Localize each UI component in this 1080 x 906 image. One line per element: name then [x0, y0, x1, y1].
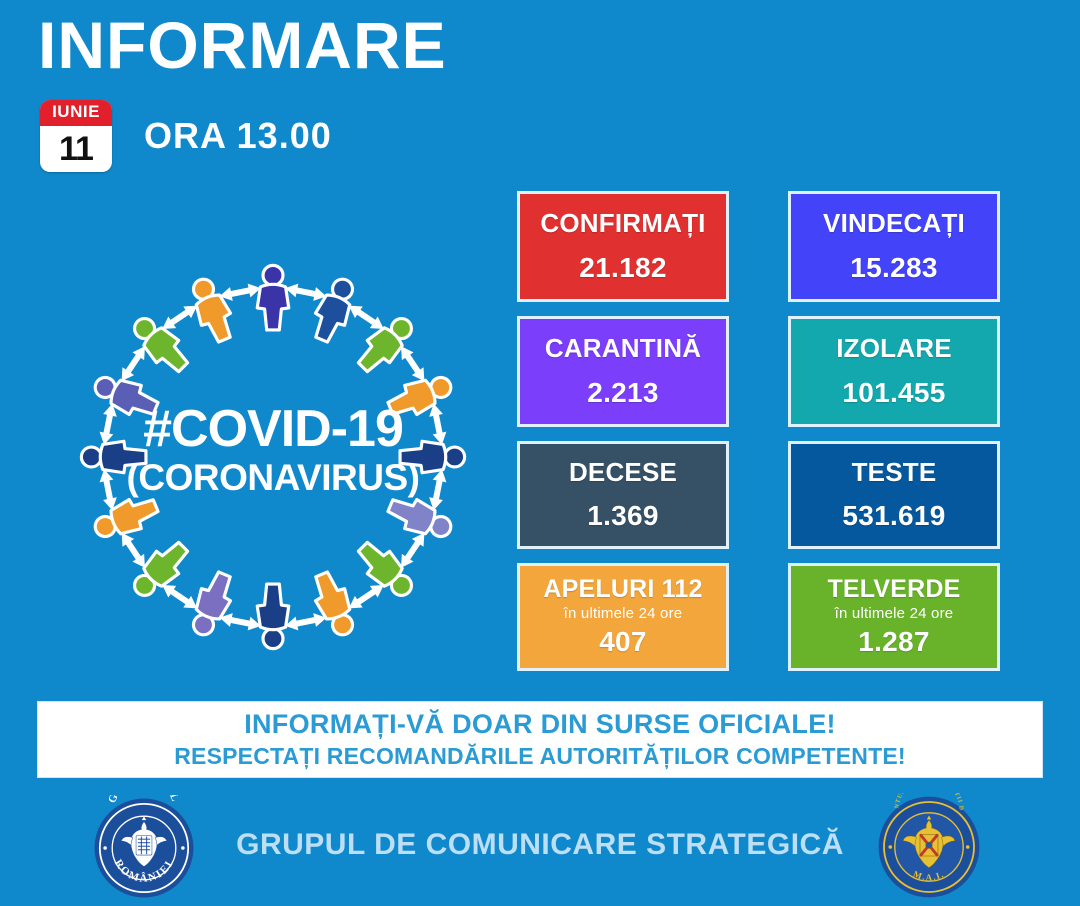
stat-card-izolare: IZOLARE101.455 [788, 316, 1000, 427]
stat-card-confirmati: CONFIRMAȚI21.182 [517, 191, 729, 302]
page-title: INFORMARE [38, 12, 447, 78]
stat-card-carantina: CARANTINĂ2.213 [517, 316, 729, 427]
statistics-grid: CONFIRMAȚI21.182VINDECAȚI15.283CARANTINĂ… [517, 191, 1000, 671]
infographic-page: INFORMARE IUNIE 11 ORA 13.00 #COVID-19 [0, 0, 1080, 906]
stat-value: 1.287 [858, 626, 930, 658]
calendar-icon: IUNIE 11 [40, 100, 112, 172]
stat-value: 15.283 [850, 252, 937, 284]
social-distancing-circle-icon: #COVID-19 (CORONAVIRUS) [38, 222, 508, 692]
stat-label: IZOLARE [836, 334, 952, 363]
calendar-month-label: IUNIE [40, 100, 112, 126]
stat-label: CARANTINĂ [545, 334, 701, 363]
stat-label: VINDECAȚI [823, 209, 965, 238]
stat-value: 1.369 [587, 500, 659, 532]
stat-value: 407 [599, 626, 647, 658]
stat-label: TESTE [852, 458, 937, 487]
stat-value: 2.213 [587, 377, 659, 409]
stat-label: CONFIRMAȚI [540, 209, 705, 238]
stat-label: DECESE [569, 458, 677, 487]
time-label: ORA 13.00 [144, 115, 332, 157]
stat-value: 531.619 [842, 500, 945, 532]
stat-card-telverde: TELVERDEîn ultimele 24 ore1.287 [788, 563, 1000, 671]
stat-label: TELVERDE [827, 576, 960, 604]
stat-card-vindecati: VINDECAȚI15.283 [788, 191, 1000, 302]
stat-card-apeluri-112: APELURI 112în ultimele 24 ore407 [517, 563, 729, 671]
advisory-line-1: INFORMAȚI-VĂ DOAR DIN SURSE OFICIALE! [244, 708, 836, 740]
stat-card-teste: TESTE531.619 [788, 441, 1000, 549]
stat-label: APELURI 112 [543, 576, 702, 604]
advisory-line-2: RESPECTAȚI RECOMANDĂRILE AUTORITĂȚILOR C… [174, 742, 906, 771]
stat-value: 101.455 [842, 377, 945, 409]
stat-value: 21.182 [579, 252, 666, 284]
advisory-banner: INFORMAȚI-VĂ DOAR DIN SURSE OFICIALE! RE… [37, 701, 1043, 778]
date-time-bar: IUNIE 11 ORA 13.00 [40, 100, 332, 172]
dsu-mai-seal-icon: DEPARTAMENTUL PENTRU SITUATII DE URGENTA… [875, 793, 983, 901]
stat-card-decese: DECESE1.369 [517, 441, 729, 549]
stat-sublabel: în ultimele 24 ore [564, 605, 683, 622]
stat-sublabel: în ultimele 24 ore [835, 605, 954, 622]
calendar-day-label: 11 [40, 126, 112, 172]
